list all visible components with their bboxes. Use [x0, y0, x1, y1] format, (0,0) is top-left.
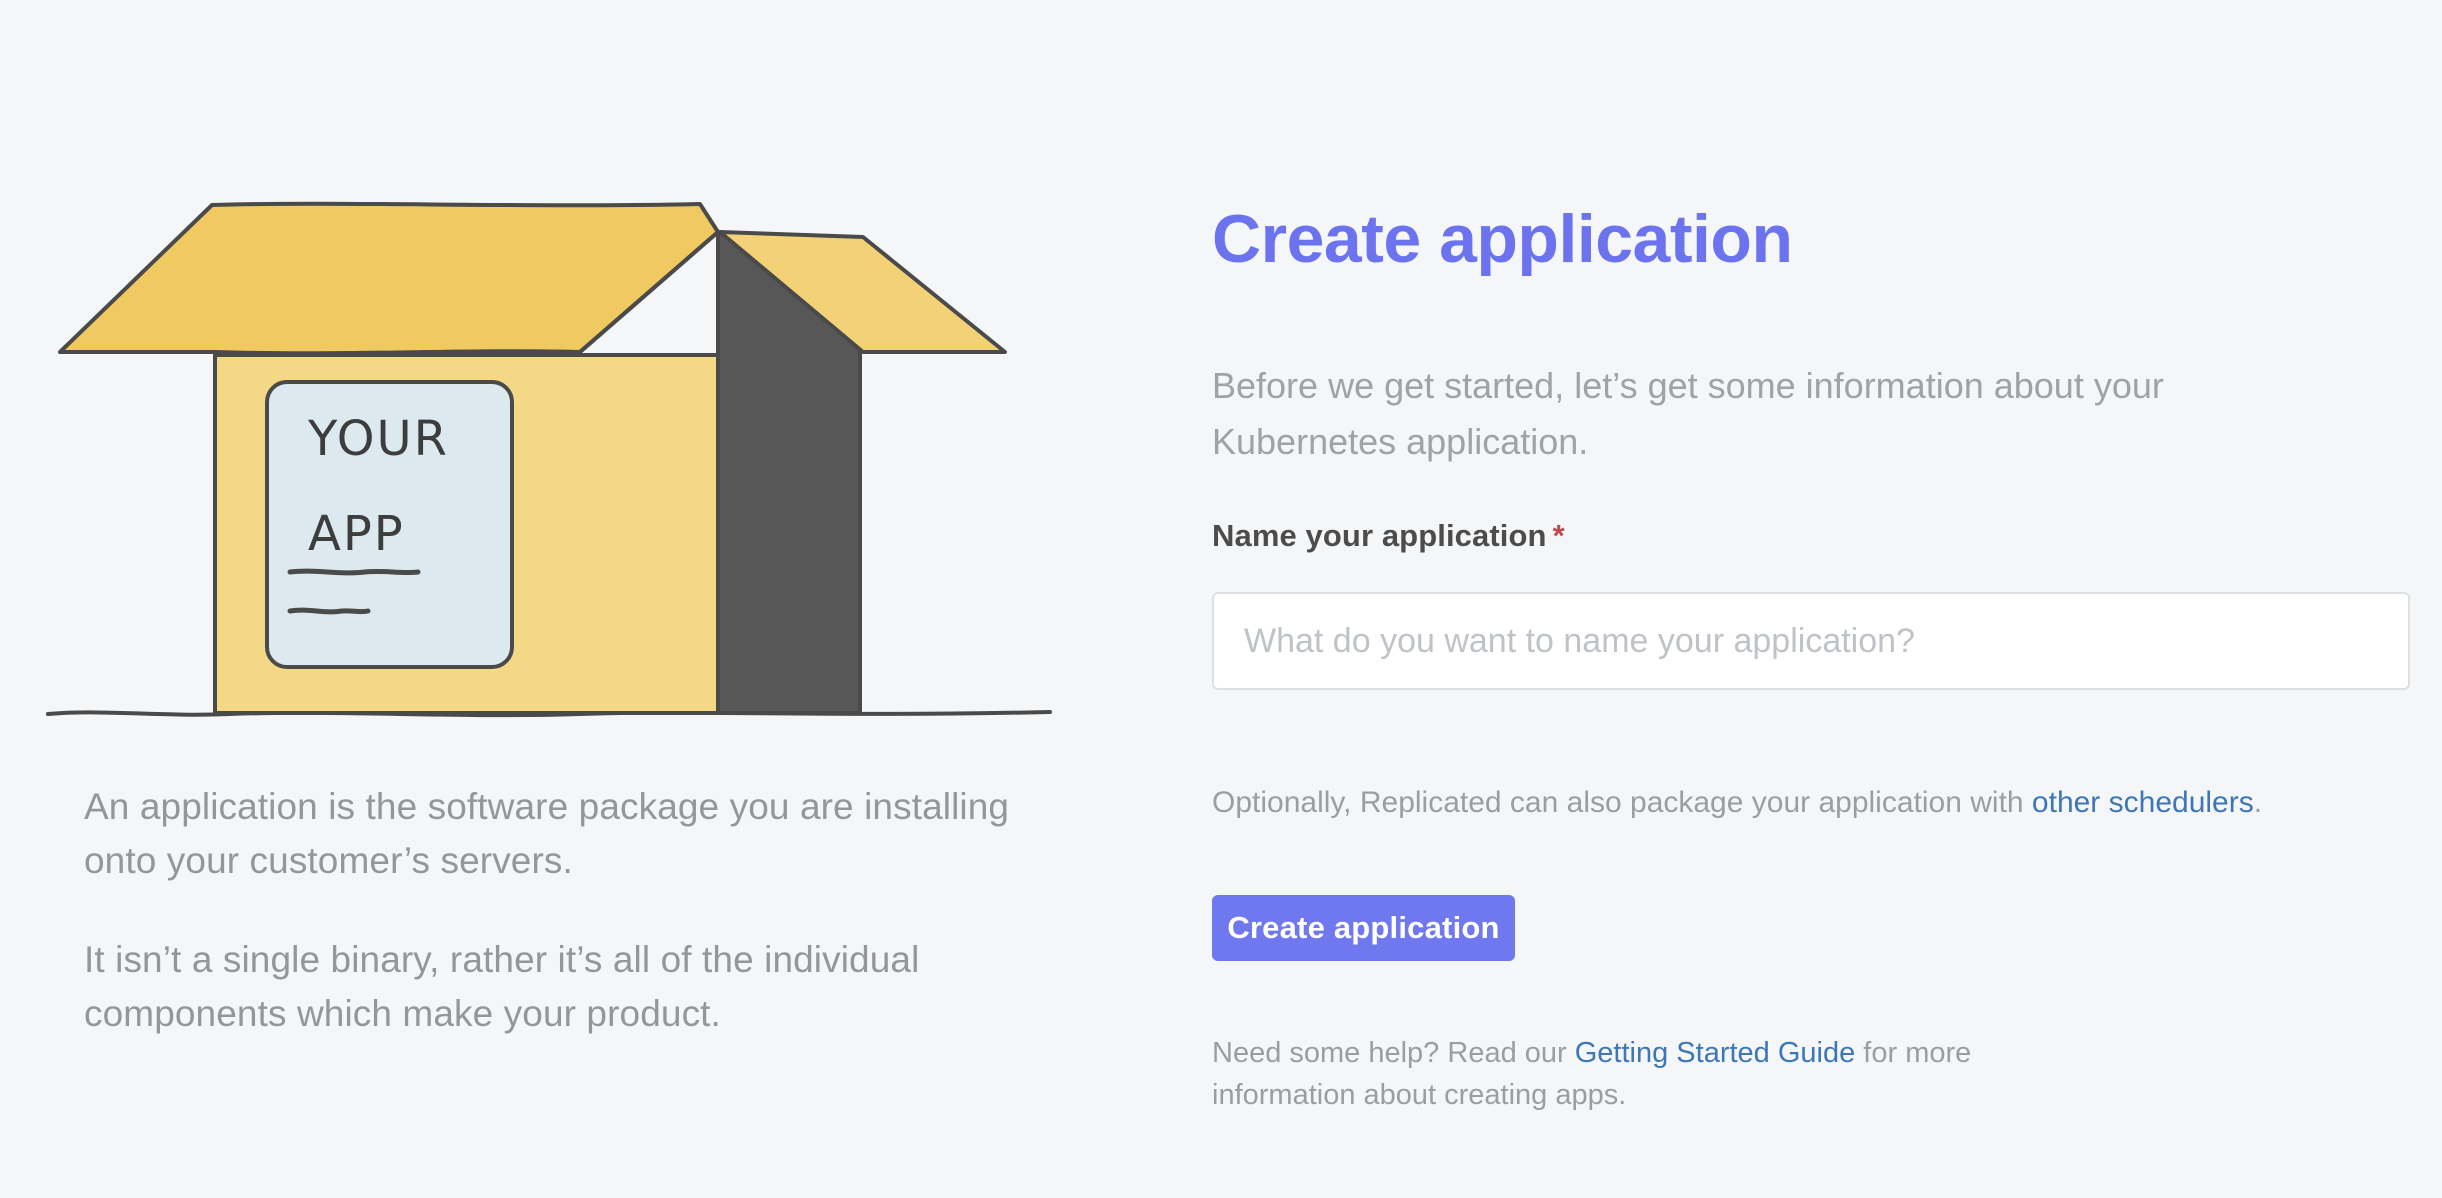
description-paragraph-2: It isn’t a single binary, rather it’s al…	[84, 933, 1024, 1042]
help-note: Need some help? Read our Getting Started…	[1212, 1032, 2012, 1116]
optional-schedulers-note: Optionally, Replicated can also package …	[1212, 782, 2262, 824]
help-note-prefix: Need some help? Read our	[1212, 1037, 1575, 1069]
getting-started-guide-link[interactable]: Getting Started Guide	[1575, 1037, 1856, 1069]
create-application-button[interactable]: Create application	[1212, 895, 1515, 961]
left-description: An application is the software package y…	[84, 780, 1024, 1042]
optional-note-suffix: .	[2254, 786, 2262, 819]
left-info-column: YOUR APP An application is the software …	[0, 0, 1140, 1198]
svg-text:APP: APP	[308, 506, 405, 562]
page-subtitle: Before we get started, let’s get some in…	[1212, 358, 2347, 470]
optional-note-prefix: Optionally, Replicated can also package …	[1212, 786, 2032, 819]
name-field-label: Name your application	[1212, 518, 1547, 553]
application-name-input[interactable]	[1212, 592, 2410, 690]
other-schedulers-link[interactable]: other schedulers	[2032, 786, 2254, 819]
description-paragraph-1: An application is the software package y…	[84, 780, 1024, 889]
page-title: Create application	[1212, 205, 1793, 273]
required-asterisk-icon: *	[1553, 518, 1565, 553]
svg-text:YOUR: YOUR	[307, 411, 449, 467]
name-field-label-row: Name your application*	[1212, 518, 1565, 554]
cardboard-box-illustration: YOUR APP	[40, 180, 1060, 740]
create-application-form-column: Create application Before we get started…	[1212, 0, 2412, 1198]
create-application-page: YOUR APP An application is the software …	[0, 0, 2442, 1198]
